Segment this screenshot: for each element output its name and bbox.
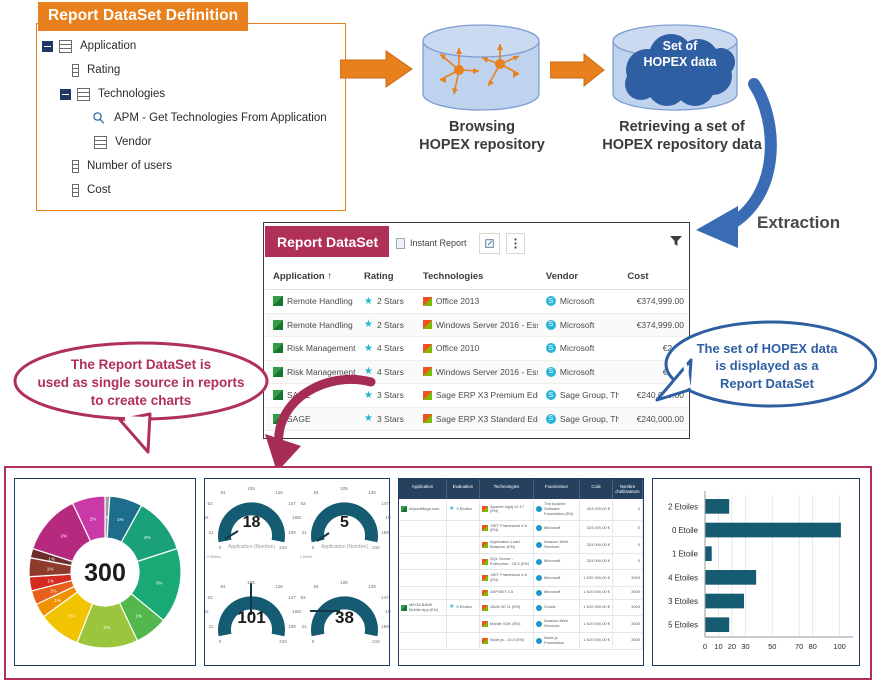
- cell-application: Remote Handling: [265, 296, 356, 306]
- cell-application: Remote Handling: [265, 320, 356, 330]
- sort-ascending-icon: ↑: [327, 271, 332, 282]
- column-header-application[interactable]: Application ↑: [265, 271, 356, 282]
- reports-arrow: [255, 368, 385, 478]
- cell-rating: ★2 Stars: [356, 296, 415, 307]
- svg-text:105: 105: [247, 486, 255, 491]
- cell-vendor: SMicrosoft: [538, 320, 620, 330]
- gauge-caption: Application (Nombre): [205, 544, 298, 550]
- cell-evaluation: ★3 Etoiles: [447, 499, 480, 519]
- definition-title: Report DataSet Definition: [38, 2, 248, 31]
- tree-node-label: Rating: [87, 64, 120, 76]
- filter-button[interactable]: [670, 234, 682, 252]
- vendor-icon: [536, 638, 542, 644]
- gauge-3: 02142 6384105 126147168 189210 38: [298, 575, 391, 669]
- y-axis-category: 3 Etoiles: [668, 597, 698, 606]
- microsoft-icon: [423, 414, 432, 423]
- microsoft-icon: [423, 297, 432, 306]
- column-header-technologies[interactable]: Technologies: [415, 271, 538, 282]
- svg-text:126: 126: [368, 490, 376, 495]
- cell-application: [399, 616, 447, 632]
- cell-technologies: Mobile SDK (EN): [480, 616, 534, 632]
- cell-evaluation: [447, 633, 480, 649]
- donut-chart-card[interactable]: 0%1%2%3%1%2%1%1%1%1%1%1%2%2% 300: [14, 478, 196, 666]
- cell-nombre: 3000: [613, 600, 643, 616]
- svg-text:147: 147: [381, 595, 389, 600]
- vendor-icon: [536, 575, 542, 581]
- gauge-value: 18: [205, 514, 298, 532]
- table-row[interactable]: Mobile SDK (EN)Amazon Web Services1 620 …: [399, 616, 643, 633]
- microsoft-icon: [482, 525, 488, 531]
- y-axis-category: 1 Etoile: [672, 550, 698, 559]
- donut-slice-label: 2%: [144, 535, 151, 540]
- cell-evaluation: [447, 570, 480, 586]
- cell-evaluation: [447, 587, 480, 599]
- table-icon: [94, 136, 107, 149]
- cell-application: MEGA BANK Mobile App (EN): [399, 600, 447, 616]
- svg-text:126: 126: [368, 584, 376, 589]
- cell-application: AirportMega.com: [399, 499, 447, 519]
- cell-nombre: 3000: [613, 587, 643, 599]
- svg-text:84: 84: [220, 490, 226, 495]
- cell-fournisseur: Microsoft: [534, 587, 580, 599]
- application-icon: [273, 296, 283, 306]
- cell-cout: 324 000,00 €: [580, 521, 613, 537]
- tree-node-application[interactable]: Application: [42, 34, 342, 58]
- tree-node-number-of-users[interactable]: Number of users: [42, 154, 342, 178]
- cell-technologies: Windows Server 2016 - Essen...: [415, 320, 538, 330]
- tree-node-label: Technologies: [98, 88, 165, 100]
- application-icon: [401, 506, 407, 512]
- svg-text:0: 0: [219, 639, 222, 644]
- microsoft-icon: [423, 344, 432, 353]
- y-axis-category: 4 Etoiles: [668, 573, 698, 582]
- donut-slice-label: 1%: [47, 579, 54, 584]
- column-header-technologies: Technologies: [480, 479, 534, 499]
- column-header-cost[interactable]: Cost: [619, 271, 688, 282]
- table-row[interactable]: Remote Handling ★2 Stars Windows Server …: [265, 314, 688, 338]
- cell-rating: ★2 Stars: [356, 319, 415, 330]
- microsoft-icon: [482, 605, 488, 611]
- open-in-new-button[interactable]: [479, 233, 500, 254]
- gauge-value: 5: [298, 514, 391, 532]
- attribute-icon: [72, 184, 79, 197]
- svg-text:63: 63: [300, 501, 306, 506]
- tree-node-vendor[interactable]: Vendor: [42, 130, 342, 154]
- cell-application: [399, 537, 447, 553]
- microsoft-icon: [482, 506, 488, 512]
- tree-node-cost[interactable]: Cost: [42, 178, 342, 202]
- gauge-sublabel: 1 Etoile: [300, 555, 312, 559]
- star-icon: ★: [364, 319, 373, 330]
- vendor-icon: [536, 621, 542, 627]
- cell-technologies: Sage ERP X3 Premium Edition: [415, 390, 538, 400]
- instant-report-label: Instant Report: [410, 238, 467, 248]
- filter-icon: [670, 236, 682, 247]
- svg-text:210: 210: [279, 639, 287, 644]
- gauge-sublabel: 2 Etoiles: [207, 555, 221, 559]
- table-row[interactable]: ASP.NET 4.5Microsoft1 620 000,00 €3000: [399, 587, 643, 600]
- column-header-cout: Coût: [580, 479, 613, 499]
- attribute-icon: [72, 64, 79, 77]
- grid-header-row: Application ↑ Rating Technologies Vendor…: [265, 264, 688, 290]
- tree-node-technologies[interactable]: Technologies: [42, 82, 342, 106]
- cell-evaluation: [447, 521, 480, 537]
- donut-slice-label: 2%: [90, 516, 97, 521]
- tree-node-label: Number of users: [87, 160, 172, 172]
- cell-technologies: Office 2010: [415, 343, 538, 353]
- cylinder-browsing: [418, 22, 544, 122]
- donut-slice-label: 1%: [68, 613, 75, 618]
- grid-title: Report DataSet: [265, 226, 389, 257]
- tree-node-label: Application: [80, 40, 136, 52]
- x-axis-tick: 30: [741, 642, 749, 651]
- cell-application: [399, 554, 447, 570]
- donut-center-value: 300: [84, 559, 126, 587]
- svg-text:147: 147: [288, 501, 296, 506]
- french-table-body: AirportMega.com★3 EtoilesApache log4j v2…: [399, 499, 643, 650]
- horizontal-bar-chart: 2 Etoiles0 Etoile1 Etoile4 Etoiles3 Etoi…: [653, 479, 859, 665]
- cell-evaluation: [447, 616, 480, 632]
- cell-evaluation: ★5 Etoiles: [447, 600, 480, 616]
- cell-technologies: JAVA SE 11 (EN): [480, 600, 534, 616]
- cell-application: [399, 570, 447, 586]
- column-header-vendor[interactable]: Vendor: [538, 271, 620, 282]
- cell-fournisseur: The Apache Software Foundation (EN): [534, 499, 580, 519]
- cell-rating: ★4 Stars: [356, 343, 415, 354]
- star-icon: ★: [364, 343, 373, 354]
- svg-text:105: 105: [340, 580, 348, 585]
- cell-technologies: Node.js - 14.0 (EN): [480, 633, 534, 649]
- table-row[interactable]: Application Load Balancer (EN)Amazon Web…: [399, 537, 643, 554]
- cell-vendor: SSage Group, The: [538, 414, 620, 424]
- cell-cout: 324 000,00 €: [580, 499, 613, 519]
- microsoft-icon: [482, 559, 488, 565]
- cell-cout: 1 620 000,00 €: [580, 587, 613, 599]
- bar[interactable]: [705, 546, 712, 561]
- x-axis-tick: 20: [728, 642, 736, 651]
- attribute-icon: [72, 160, 79, 173]
- svg-text:84: 84: [313, 584, 319, 589]
- cell-nombre: 0: [613, 521, 643, 537]
- vendor-icon: S: [546, 414, 556, 424]
- bar[interactable]: [705, 594, 744, 609]
- svg-text:63: 63: [207, 595, 213, 600]
- donut-slice-label: 1%: [50, 589, 57, 594]
- cell-technologies: Sage ERP X3 Standard Edition: [415, 414, 538, 424]
- gauge-1: 02142 6384105 126147168 189210 5 Applica…: [298, 481, 391, 575]
- instant-report-button[interactable]: Instant Report: [390, 233, 473, 254]
- star-icon: ★: [449, 604, 454, 611]
- x-axis-tick: 100: [833, 642, 846, 651]
- svg-text:147: 147: [288, 595, 296, 600]
- column-header-application: Application: [399, 479, 447, 499]
- cell-application: [399, 633, 447, 649]
- donut-slice-label: 3%: [156, 580, 163, 585]
- cell-vendor: SMicrosoft: [538, 296, 620, 306]
- table-row[interactable]: .NET Framework 4.8 (EN)Microsoft324 000,…: [399, 521, 643, 538]
- vendor-icon: [536, 605, 542, 611]
- bar[interactable]: [705, 523, 841, 538]
- vendor-icon: S: [546, 320, 556, 330]
- vendor-icon: [536, 542, 542, 548]
- cell-nombre: 0: [613, 554, 643, 570]
- cell-technologies: Application Load Balancer (EN): [480, 537, 534, 553]
- cell-fournisseur: Amazon Web Services: [534, 616, 580, 632]
- cell-application: [399, 521, 447, 537]
- donut-slice-label: 1%: [54, 598, 61, 603]
- cell-vendor: SMicrosoft: [538, 367, 620, 377]
- microsoft-icon: [482, 590, 488, 596]
- star-icon: ★: [449, 506, 454, 513]
- bar[interactable]: [705, 499, 729, 514]
- donut-slice-label: 1%: [117, 517, 124, 522]
- svg-text:210: 210: [372, 639, 380, 644]
- column-header-fournisseur: Fournisseur: [534, 479, 580, 499]
- svg-text:105: 105: [247, 580, 255, 585]
- table-row[interactable]: Risk Management ★4 Stars Office 2010 SMi…: [265, 337, 688, 361]
- cell-fournisseur: Microsoft: [534, 570, 580, 586]
- cell-fournisseur: Amazon Web Services: [534, 537, 580, 553]
- donut-slice-label: 1%: [48, 556, 55, 561]
- cell-application: [399, 587, 447, 599]
- french-table-card[interactable]: Application Evaluation Technologies Four…: [398, 478, 644, 666]
- cell-cout: 1 620 000,00 €: [580, 600, 613, 616]
- table-row[interactable]: MEGA BANK Mobile App (EN)★5 EtoilesJAVA …: [399, 600, 643, 617]
- bar[interactable]: [705, 570, 756, 585]
- x-axis-tick: 10: [714, 642, 722, 651]
- cell-technologies: SQL Server - Enterprise - 15.0 (EN): [480, 554, 534, 570]
- microsoft-icon: [423, 367, 432, 376]
- vendor-icon: S: [546, 390, 556, 400]
- svg-text:63: 63: [300, 595, 306, 600]
- cell-evaluation: [447, 537, 480, 553]
- tree-node-label: APM - Get Technologies From Application: [114, 112, 327, 124]
- x-axis-tick: 80: [808, 642, 816, 651]
- star-icon: ★: [364, 296, 373, 307]
- y-axis-category: 0 Etoile: [672, 526, 698, 535]
- cell-nombre: 0: [613, 499, 643, 519]
- svg-text:126: 126: [275, 584, 283, 589]
- cell-cost: €374,999.00: [619, 296, 688, 306]
- donut-slice-label: 1%: [47, 567, 54, 572]
- gauge-caption: Application (Nombre): [298, 544, 391, 550]
- cell-vendor: SSage Group, The: [538, 390, 620, 400]
- table-icon: [77, 88, 90, 101]
- cell-fournisseur: Node.js Foundation: [534, 633, 580, 649]
- vendor-icon: [536, 559, 542, 565]
- more-vertical-icon: [514, 238, 517, 249]
- table-row[interactable]: .NET Framework 4.8 (EN)Microsoft1 620 00…: [399, 570, 643, 587]
- gauge-value: 38: [298, 608, 391, 628]
- donut-chart: 0%1%2%3%1%2%1%1%1%1%1%1%2%2% 300: [15, 479, 195, 665]
- cell-vendor: SMicrosoft: [538, 343, 620, 353]
- cell-technologies: Windows Server 2016 - Essen...: [415, 367, 538, 377]
- vendor-icon: [536, 525, 542, 531]
- cell-cout: 1 620 000,00 €: [580, 570, 613, 586]
- document-icon: [396, 238, 405, 249]
- cylinder-browsing-label: Browsing HOPEX repository: [412, 118, 552, 154]
- microsoft-icon: [482, 542, 488, 548]
- table-row[interactable]: Remote Handling ★2 Stars Office 2013 SMi…: [265, 290, 688, 314]
- y-axis-category: 5 Etoiles: [668, 621, 698, 630]
- cell-cout: 324 000,00 €: [580, 554, 613, 570]
- tree-node-label: Vendor: [115, 136, 151, 148]
- cell-technologies: .NET Framework 4.8 (EN): [480, 521, 534, 537]
- vendor-icon: S: [546, 367, 556, 377]
- cell-cout: 324 000,00 €: [580, 537, 613, 553]
- svg-text:84: 84: [313, 490, 319, 495]
- microsoft-icon: [423, 320, 432, 329]
- gauge-2: 02142 6384105 126147168 189210 101: [205, 575, 298, 669]
- cell-evaluation: [447, 554, 480, 570]
- orange-arrow-1: [340, 48, 420, 90]
- tree-node-label: Cost: [87, 184, 111, 196]
- column-header-evaluation: Evaluation: [447, 479, 480, 499]
- definition-tree[interactable]: Application Rating Technologies APM - Ge…: [42, 34, 342, 202]
- gauge-chart-card[interactable]: 02142 6384105 126147168 189210 18 Applic…: [204, 478, 390, 666]
- cell-cout: 1 620 000,00 €: [580, 616, 613, 632]
- tree-node-apm-query[interactable]: APM - Get Technologies From Application: [42, 106, 342, 130]
- table-row[interactable]: SQL Server - Enterprise - 15.0 (EN)Micro…: [399, 554, 643, 571]
- left-callout-text: The Report DataSet is used as single sou…: [12, 343, 270, 423]
- cell-technologies: Office 2013: [415, 296, 538, 306]
- cell-fournisseur: Microsoft: [534, 554, 580, 570]
- table-icon: [59, 40, 72, 53]
- cell-cout: 1 620 000,00 €: [580, 633, 613, 649]
- y-axis-category: 2 Etoiles: [668, 502, 698, 511]
- microsoft-icon: [482, 621, 488, 627]
- cell-fournisseur: Microsoft: [534, 521, 580, 537]
- tree-node-rating[interactable]: Rating: [42, 58, 342, 82]
- grid-toolbar[interactable]: Instant Report: [390, 230, 686, 256]
- vendor-icon: S: [546, 296, 556, 306]
- cell-technologies: ASP.NET 4.5: [480, 587, 534, 599]
- donut-slice-label: 2%: [103, 625, 110, 630]
- donut-slice-label: 1%: [135, 613, 142, 618]
- vendor-icon: [536, 506, 542, 512]
- svg-text:147: 147: [381, 501, 389, 506]
- microsoft-icon: [482, 638, 488, 644]
- bar-chart-card[interactable]: 2 Etoiles0 Etoile1 Etoile4 Etoiles3 Etoi…: [652, 478, 860, 666]
- x-axis-tick: 70: [795, 642, 803, 651]
- cell-technologies: Apache log4j v2.17 (EN): [480, 499, 534, 519]
- cell-nombre: 0: [613, 537, 643, 553]
- svg-text:63: 63: [207, 501, 213, 506]
- x-axis-tick: 0: [703, 642, 707, 651]
- cell-technologies: .NET Framework 4.8 (EN): [480, 570, 534, 586]
- svg-text:0: 0: [312, 639, 315, 644]
- right-callout-text: The set of HOPEX data is displayed as a …: [663, 320, 871, 412]
- column-header-nombre-utilisateurs: Nombre d'utilisateurs: [613, 479, 643, 499]
- donut-slice-label: 2%: [60, 534, 67, 539]
- x-axis-tick: 50: [768, 642, 776, 651]
- vendor-icon: [536, 590, 542, 596]
- table-row[interactable]: Node.js - 14.0 (EN)Node.js Foundation1 6…: [399, 633, 643, 650]
- column-header-rating[interactable]: Rating: [356, 271, 415, 282]
- query-icon: [92, 111, 106, 125]
- gauge-value: 101: [205, 608, 298, 628]
- cell-nombre: 3000: [613, 570, 643, 586]
- cloud-label: Set of HOPEX data: [605, 38, 755, 71]
- cell-nombre: 3000: [613, 616, 643, 632]
- cell-fournisseur: Oracle: [534, 600, 580, 616]
- application-icon: [273, 320, 283, 330]
- microsoft-icon: [482, 575, 488, 581]
- microsoft-icon: [423, 391, 432, 400]
- gauge-0: 02142 6384105 126147168 189210 18 Applic…: [205, 481, 298, 575]
- collapse-icon[interactable]: [60, 89, 71, 100]
- more-options-button[interactable]: [506, 233, 525, 254]
- svg-text:126: 126: [275, 490, 283, 495]
- table-row[interactable]: AirportMega.com★3 EtoilesApache log4j v2…: [399, 499, 643, 520]
- svg-text:105: 105: [340, 486, 348, 491]
- extraction-label: Extraction: [757, 213, 840, 233]
- svg-text:84: 84: [220, 584, 226, 589]
- cell-nombre: 3000: [613, 633, 643, 649]
- vendor-icon: S: [546, 343, 556, 353]
- collapse-icon[interactable]: [42, 41, 53, 52]
- french-table-header: Application Evaluation Technologies Four…: [399, 479, 643, 499]
- application-icon: [401, 605, 407, 611]
- bar[interactable]: [705, 617, 729, 632]
- open-in-new-icon: [485, 239, 494, 248]
- orange-arrow-2: [550, 52, 610, 88]
